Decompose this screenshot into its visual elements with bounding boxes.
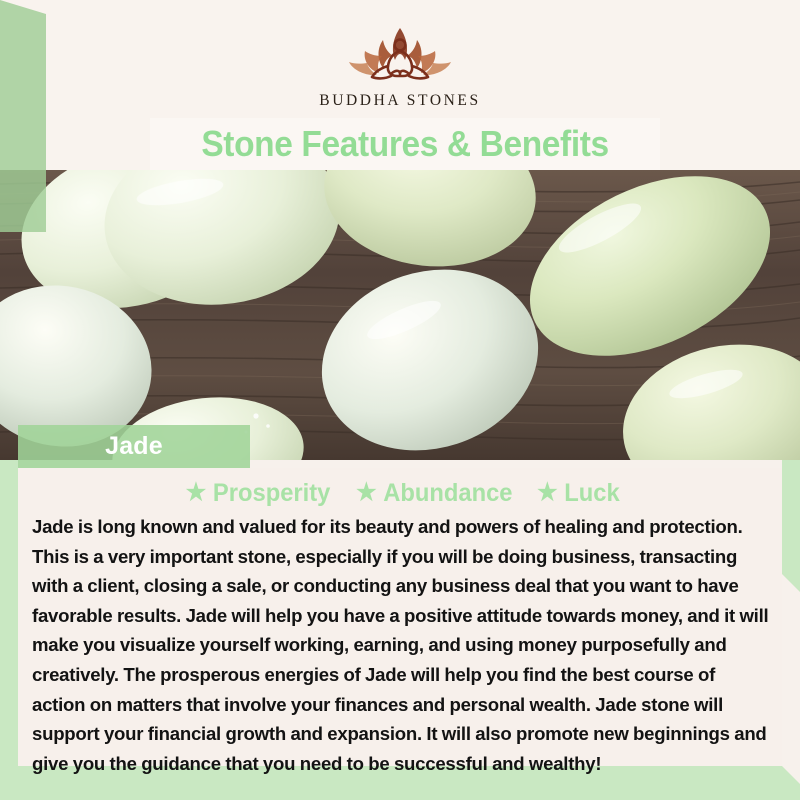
stone-description: Jade is long known and valued for its be… — [32, 512, 772, 778]
infographic-page: BUDDHA STONES Stone Features & Benefits — [0, 0, 800, 800]
keyword-abundance: ★ Abundance — [356, 479, 512, 508]
keyword-label: Prosperity — [213, 479, 330, 508]
content-panel: ★ Prosperity ★ Abundance ★ Luck Jade is … — [18, 468, 782, 766]
star-icon: ★ — [356, 481, 376, 505]
brand-name: BUDDHA STONES — [319, 92, 480, 110]
stone-name-banner: Jade — [18, 425, 250, 468]
keyword-list: ★ Prosperity ★ Abundance ★ Luck — [32, 476, 772, 510]
title-banner: Stone Features & Benefits — [150, 118, 660, 170]
stone-name: Jade — [105, 432, 163, 461]
keyword-label: Luck — [564, 479, 619, 508]
star-icon: ★ — [186, 481, 206, 505]
stone-photo-graphic — [0, 170, 800, 460]
star-icon: ★ — [537, 481, 557, 505]
decorative-left-overlay — [0, 0, 46, 232]
keyword-label: Abundance — [384, 479, 513, 508]
brand-logo: BUDDHA STONES — [0, 18, 800, 110]
decorative-right-bar-lower — [782, 452, 800, 592]
keyword-luck: ★ Luck — [537, 479, 620, 508]
lotus-meditation-icon — [325, 18, 475, 86]
keyword-prosperity: ★ Prosperity — [186, 479, 331, 508]
stone-photo — [0, 170, 800, 460]
page-title: Stone Features & Benefits — [201, 123, 608, 165]
